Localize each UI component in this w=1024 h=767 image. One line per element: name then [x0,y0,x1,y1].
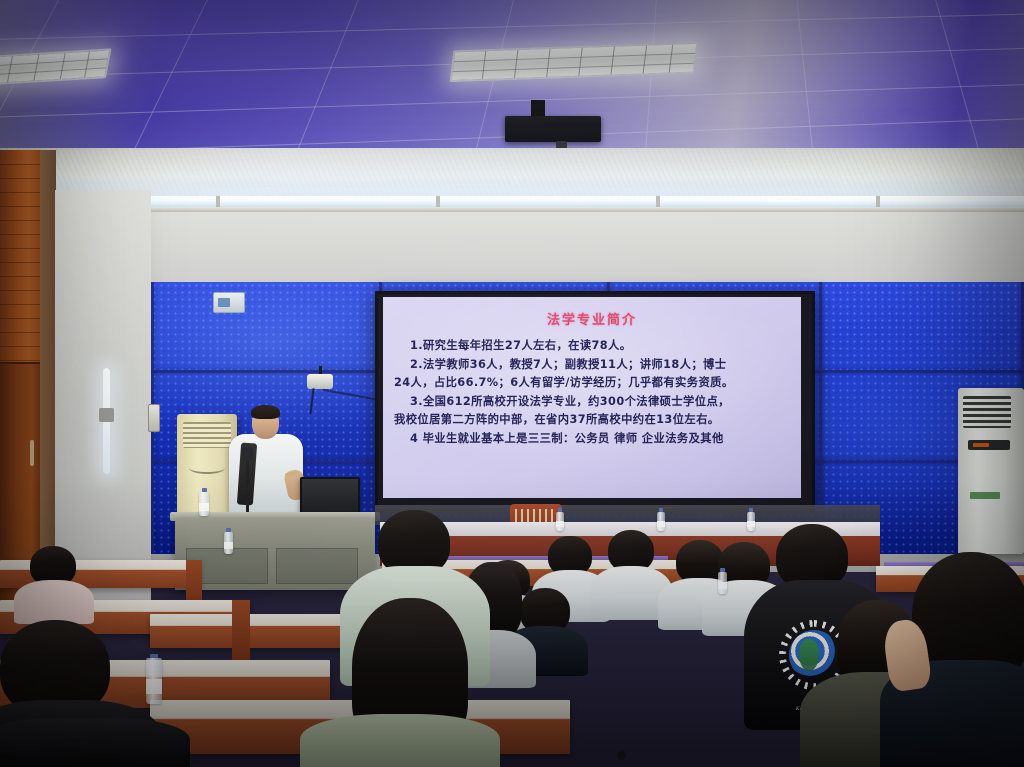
slide-line: 3.全国612所高校开设法学专业，约300个法律硕士学位点， [394,393,790,411]
slide-line: 24人，占比66.7%；6人有留学/访学经历；几乎都有实务资质。 [394,374,790,392]
wall-notice-sign [213,292,245,313]
water-bottle [657,512,665,531]
upper-wall-band [44,212,1024,290]
podium-microphone [241,447,253,461]
camera-lens-icon [617,751,626,760]
ptz-camera [307,374,333,389]
ac-grill-icon [963,396,1011,428]
ac-vent-icon [189,462,225,474]
projection-screen: 法学专业简介 1.研究生每年招生27人左右，在读78人。 2.法学教师36人，教… [383,297,801,498]
presenter-hair [251,405,280,419]
water-bottle [146,658,162,704]
ceiling-projector [505,116,601,142]
slide-title: 法学专业简介 [383,309,801,328]
ac-display-panel[interactable] [968,440,1010,450]
wall-mounted-box [148,404,160,432]
slide-line: 1.研究生每年招生27人左右，在读78人。 [394,337,790,355]
water-bottle [718,572,727,594]
podium-panel [276,548,358,584]
slide-body: 1.研究生每年招生27人左右，在读78人。 2.法学教师36人，教授7人；副教授… [394,337,790,447]
door-handle[interactable] [30,440,34,466]
slide-line: 2.法学教师36人，教授7人；副教授11人；讲师18人；博士 [394,356,790,374]
podium-microphone-stand [246,455,249,513]
slide-line: 4 毕业生就业基本上是三三制：公务员 律师 企业法务及其他 [394,430,790,448]
water-bottle [199,492,209,516]
water-bottle [747,512,755,531]
water-bottle [224,532,233,554]
tee-graphic-inner [799,639,819,671]
ac-grill-icon [183,422,231,448]
cove-fluorescent-strip [0,196,1024,207]
water-bottle [556,512,564,531]
slide-line: 我校位居第二方阵的中部，在省内37所高校中约在13位左右。 [394,411,790,429]
ac-brand-logo [970,492,1000,499]
floor-air-conditioner-right [958,388,1024,554]
desk-side-panel [232,600,250,664]
lecture-hall-photo: 法学专业简介 1.研究生每年招生27人左右，在读78人。 2.法学教师36人，教… [0,0,1024,767]
sconce-bracket [99,408,114,422]
